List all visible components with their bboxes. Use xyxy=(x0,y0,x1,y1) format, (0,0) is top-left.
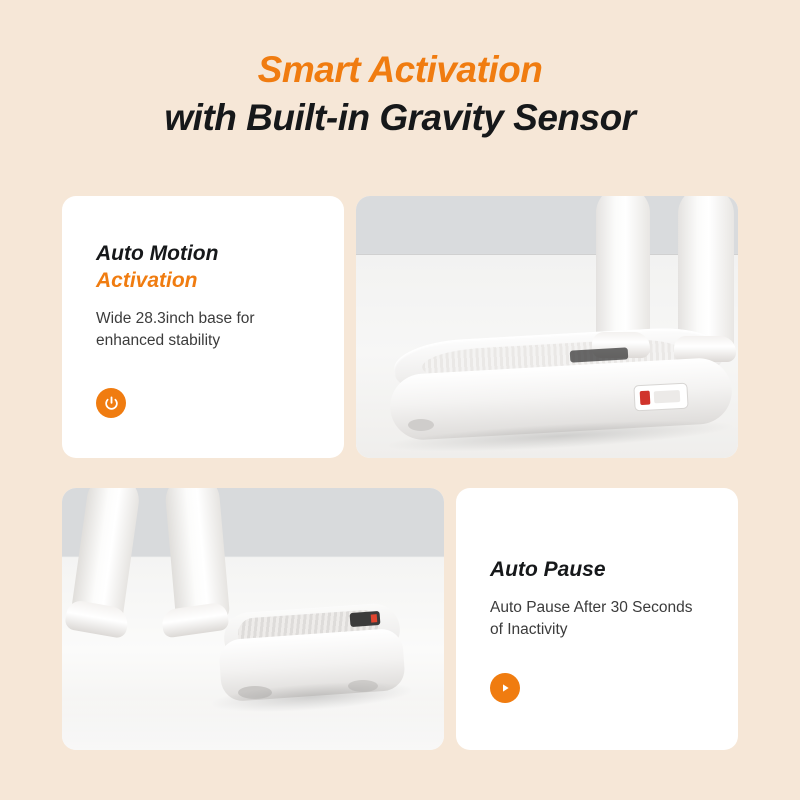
plate-foot-pad xyxy=(408,419,434,431)
page-title: Smart Activation with Built-in Gravity S… xyxy=(0,48,800,142)
power-switch-panel xyxy=(633,383,688,412)
feature-row-top: Auto Motion Activation Wide 28.3inch bas… xyxy=(62,196,738,458)
card-title-line-1: Auto Motion xyxy=(96,240,310,267)
card-description: Auto Pause After 30 Seconds of Inactivit… xyxy=(490,597,704,641)
floor-reflection xyxy=(62,696,444,750)
card-title-line-2: Activation xyxy=(96,267,310,294)
left-leg xyxy=(596,196,650,348)
photo-2-scene xyxy=(62,488,444,750)
power-switch xyxy=(640,391,651,406)
plate-indicator-light xyxy=(371,614,378,622)
switch-panel-screw-plate xyxy=(654,390,681,403)
play-icon xyxy=(490,673,520,703)
card-title: Auto Pause xyxy=(490,556,704,583)
page-title-line-1: Smart Activation xyxy=(0,48,800,92)
photo-person-standing-on-vibration-plate xyxy=(356,196,738,458)
feature-row-bottom: Auto Pause Auto Pause After 30 Seconds o… xyxy=(62,488,738,750)
front-foot xyxy=(160,602,229,639)
photo-1-scene xyxy=(356,196,738,458)
product-feature-banner: Smart Activation with Built-in Gravity S… xyxy=(0,0,800,800)
power-icon xyxy=(96,388,126,418)
card-auto-pause: Auto Pause Auto Pause After 30 Seconds o… xyxy=(456,488,738,750)
photo-person-stepping-onto-vibration-plate xyxy=(62,488,444,750)
page-title-line-2: with Built-in Gravity Sensor xyxy=(0,94,800,142)
plate-display xyxy=(350,611,381,627)
card-auto-motion-activation: Auto Motion Activation Wide 28.3inch bas… xyxy=(62,196,344,458)
card-description: Wide 28.3inch base for enhanced stabilit… xyxy=(96,308,310,352)
